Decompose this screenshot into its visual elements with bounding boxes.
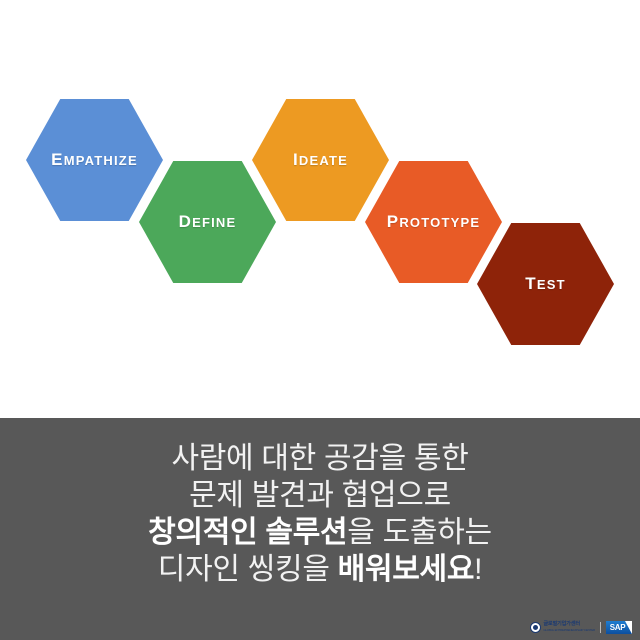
hex-stage-prototype[interactable]: PROTOTYPE	[365, 161, 502, 283]
caption-text: 사람에 대한 공감을 통한 문제 발견과 협업으로 창의적인 솔루션을 도출하는…	[0, 440, 640, 588]
caption-line-2-plain: 문제 발견과 협업으로	[189, 479, 451, 512]
hex-label-cap: T	[525, 274, 537, 293]
hex-stage-define[interactable]: DEFINE	[139, 161, 276, 283]
caption-line-3: 창의적인 솔루션을 도출하는	[0, 514, 640, 551]
government-seal-icon	[530, 622, 541, 633]
hex-label-rest: MPATHIZE	[64, 153, 138, 168]
hex-label-prototype: PROTOTYPE	[387, 213, 480, 231]
partner-logo-subtitle: GLOBAL ENTREPRENEURSHIP CENTER	[543, 629, 595, 632]
partner-logo-name: 글로벌기업가센터	[543, 622, 595, 627]
logo-divider	[600, 622, 601, 633]
hex-label-cap: P	[387, 212, 400, 231]
hex-stage-empathize[interactable]: EMPATHIZE	[26, 99, 163, 221]
caption-line-4-plain-before: 디자인 씽킹을	[158, 553, 338, 586]
hex-stage-test[interactable]: TEST	[477, 223, 614, 345]
hex-label-define: DEFINE	[179, 213, 237, 231]
sap-logo-text: SAP	[610, 623, 626, 632]
caption-line-3-plain: 을 도출하는	[347, 516, 492, 549]
hex-label-rest: DEATE	[299, 153, 348, 168]
hex-label-cap: D	[179, 212, 192, 231]
hex-label-empathize: EMPATHIZE	[51, 151, 138, 169]
caption-line-3-bold: 창의적인 솔루션	[148, 516, 347, 549]
hex-label-rest: EST	[537, 277, 566, 292]
caption-line-1: 사람에 대한 공감을 통한	[0, 440, 640, 477]
poster: EMPATHIZE DEFINE IDEATE PROTOTYPE TEST	[0, 0, 640, 640]
hex-label-ideate: IDEATE	[293, 151, 348, 169]
design-thinking-diagram: EMPATHIZE DEFINE IDEATE PROTOTYPE TEST	[0, 0, 640, 418]
hex-stage-ideate[interactable]: IDEATE	[252, 99, 389, 221]
sap-logo: SAP	[606, 621, 632, 634]
partner-logo: 글로벌기업가센터 GLOBAL ENTREPRENEURSHIP CENTER	[530, 622, 595, 633]
hex-label-rest: ROTOTYPE	[399, 215, 480, 230]
caption-line-1-plain: 사람에 대한 공감을 통한	[171, 442, 468, 475]
hex-label-rest: EFINE	[192, 215, 236, 230]
hex-label-cap: E	[51, 150, 64, 169]
caption-line-4: 디자인 씽킹을 배워보세요!	[0, 551, 640, 588]
hex-label-test: TEST	[525, 275, 565, 293]
caption-line-2: 문제 발견과 협업으로	[0, 477, 640, 514]
caption-line-4-plain-after: !	[474, 553, 482, 586]
footer-logo-bar: 글로벌기업가센터 GLOBAL ENTREPRENEURSHIP CENTER …	[530, 618, 632, 636]
caption-line-4-bold: 배워보세요	[338, 553, 475, 586]
caption-panel: 사람에 대한 공감을 통한 문제 발견과 협업으로 창의적인 솔루션을 도출하는…	[0, 418, 640, 640]
partner-logo-text: 글로벌기업가센터 GLOBAL ENTREPRENEURSHIP CENTER	[543, 622, 595, 631]
